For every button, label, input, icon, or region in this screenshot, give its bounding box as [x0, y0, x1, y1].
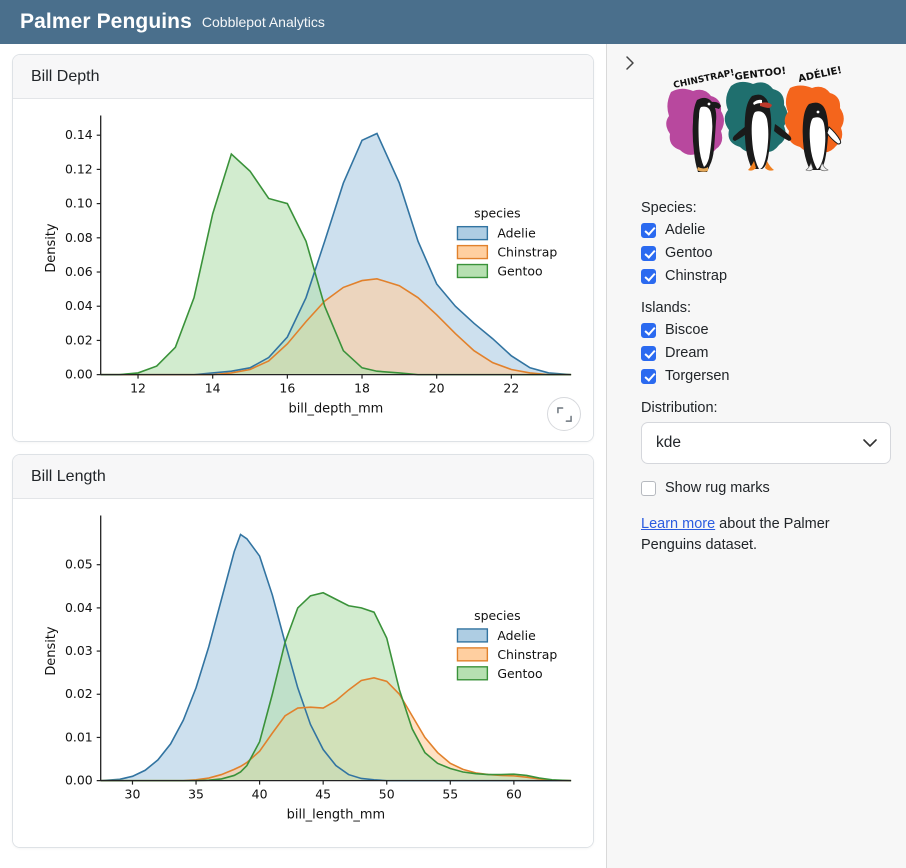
legend-swatch-chinstrap: [457, 246, 487, 259]
x-tick-label: 45: [315, 787, 331, 802]
artwork-label-chinstrap: CHINSTRAP!: [673, 68, 736, 91]
legend-swatch-gentoo: [457, 667, 487, 680]
checkbox-label: Chinstrap: [665, 268, 727, 284]
y-tick-label: 0.05: [65, 557, 93, 572]
y-tick-label: 0.03: [65, 643, 93, 658]
checkbox-island-dream[interactable]: Dream: [641, 345, 888, 361]
main-content: Bill Depth 0.000.020.040.060.080.100.120…: [0, 44, 606, 868]
x-tick-label: 22: [503, 381, 519, 396]
checkbox-species-chinstrap[interactable]: Chinstrap: [641, 268, 888, 284]
legend-title: species: [474, 206, 520, 221]
checkbox-box[interactable]: [641, 223, 656, 238]
legend-label-gentoo: Gentoo: [497, 264, 542, 279]
y-tick-label: 0.04: [65, 600, 93, 615]
plot-bill-depth: 0.000.020.040.060.080.100.120.1412141618…: [13, 99, 593, 441]
app-header: Palmer Penguins Cobblepot Analytics: [0, 0, 906, 44]
checkbox-label: Biscoe: [665, 322, 709, 338]
card-title: Bill Length: [31, 468, 106, 486]
y-axis-title: Density: [44, 223, 59, 273]
legend-label-gentoo: Gentoo: [497, 666, 542, 681]
app-body: Bill Depth 0.000.020.040.060.080.100.120…: [0, 44, 906, 868]
artwork-label-gentoo: GENTOO!: [734, 66, 787, 83]
dataset-help-text: Learn more about the Palmer Penguins dat…: [641, 514, 871, 556]
legend-title: species: [474, 608, 520, 623]
x-tick-label: 18: [354, 381, 370, 396]
x-tick-label: 16: [279, 381, 295, 396]
card-bill-depth: Bill Depth 0.000.020.040.060.080.100.120…: [12, 54, 594, 442]
y-axis-title: Density: [44, 626, 59, 676]
expand-icon: [557, 407, 572, 422]
checkbox-box[interactable]: [641, 323, 656, 338]
checkbox-label: Gentoo: [665, 245, 713, 261]
checkbox-species-gentoo[interactable]: Gentoo: [641, 245, 888, 261]
checkbox-island-torgersen[interactable]: Torgersen: [641, 368, 888, 384]
checkbox-show-rug-marks[interactable]: Show rug marks: [641, 480, 888, 496]
chart-svg: 0.000.020.040.060.080.100.120.1412141618…: [13, 99, 593, 441]
card-header-bill-length: Bill Length: [13, 455, 593, 499]
legend-swatch-adelie: [457, 629, 487, 642]
legend-label-adelie: Adelie: [497, 226, 535, 241]
card-title: Bill Depth: [31, 68, 99, 86]
y-tick-label: 0.10: [65, 196, 93, 211]
distribution-select[interactable]: kde: [641, 422, 891, 464]
legend-swatch-gentoo: [457, 265, 487, 278]
checkbox-box[interactable]: [641, 481, 656, 496]
y-tick-label: 0.14: [65, 127, 93, 142]
checkbox-box[interactable]: [641, 246, 656, 261]
x-tick-label: 12: [130, 381, 146, 396]
distribution-label: Distribution:: [641, 400, 888, 416]
checkbox-box[interactable]: [641, 269, 656, 284]
checkbox-label: Adelie: [665, 222, 705, 238]
sidebar: CHINSTRAP! GENTOO! ADÉLIE! Species: Adel…: [606, 44, 906, 868]
page-title: Palmer Penguins: [20, 10, 192, 34]
palmer-penguins-artwork: CHINSTRAP! GENTOO! ADÉLIE!: [657, 62, 857, 182]
y-tick-label: 0.00: [65, 773, 93, 788]
legend-swatch-adelie: [457, 227, 487, 240]
learn-more-link[interactable]: Learn more: [641, 516, 715, 532]
plot-bill-length: 0.000.010.020.030.040.0530354045505560bi…: [13, 499, 593, 847]
checkbox-label: Torgersen: [665, 368, 729, 384]
y-tick-label: 0.02: [65, 686, 93, 701]
x-axis-title: bill_length_mm: [287, 807, 385, 822]
card-bill-length: Bill Length 0.000.010.020.030.040.053035…: [12, 454, 594, 848]
x-tick-label: 35: [188, 787, 204, 802]
x-tick-label: 30: [125, 787, 141, 802]
app-root: Palmer Penguins Cobblepot Analytics Bill…: [0, 0, 906, 868]
distribution-selected-value: kde: [656, 434, 681, 452]
checkbox-label: Dream: [665, 345, 709, 361]
legend-label-adelie: Adelie: [497, 628, 535, 643]
x-tick-label: 50: [379, 787, 395, 802]
x-tick-label: 40: [252, 787, 268, 802]
y-tick-label: 0.00: [65, 367, 93, 382]
x-tick-label: 20: [429, 381, 445, 396]
chart-svg: 0.000.010.020.030.040.0530354045505560bi…: [13, 499, 593, 847]
checkbox-island-biscoe[interactable]: Biscoe: [641, 322, 888, 338]
legend-swatch-chinstrap: [457, 648, 487, 661]
chevron-right-icon: [624, 54, 637, 72]
penguins-illustration: CHINSTRAP! GENTOO! ADÉLIE!: [657, 62, 857, 182]
chevron-down-icon: [862, 438, 878, 448]
y-tick-label: 0.06: [65, 264, 93, 279]
checkbox-species-adelie[interactable]: Adelie: [641, 222, 888, 238]
card-body-bill-length: 0.000.010.020.030.040.0530354045505560bi…: [13, 499, 593, 847]
y-tick-label: 0.12: [65, 161, 93, 176]
checkbox-box[interactable]: [641, 369, 656, 384]
species-group-label: Species:: [641, 200, 888, 216]
page-subtitle: Cobblepot Analytics: [202, 14, 325, 30]
checkbox-box[interactable]: [641, 346, 656, 361]
islands-group-label: Islands:: [641, 300, 888, 316]
card-header-bill-depth: Bill Depth: [13, 55, 593, 99]
x-tick-label: 14: [205, 381, 221, 396]
x-axis-title: bill_depth_mm: [288, 402, 383, 417]
y-tick-label: 0.08: [65, 230, 93, 245]
legend-label-chinstrap: Chinstrap: [497, 245, 557, 260]
expand-button[interactable]: [547, 397, 581, 431]
checkbox-label: Show rug marks: [665, 480, 770, 496]
y-tick-label: 0.02: [65, 332, 93, 347]
x-tick-label: 55: [442, 787, 458, 802]
x-tick-label: 60: [506, 787, 522, 802]
legend-label-chinstrap: Chinstrap: [497, 647, 557, 662]
artwork-label-adelie: ADÉLIE!: [797, 63, 843, 85]
y-tick-label: 0.01: [65, 729, 93, 744]
sidebar-toggle-button[interactable]: [619, 52, 641, 74]
y-tick-label: 0.04: [65, 298, 93, 313]
card-body-bill-depth: 0.000.020.040.060.080.100.120.1412141618…: [13, 99, 593, 441]
